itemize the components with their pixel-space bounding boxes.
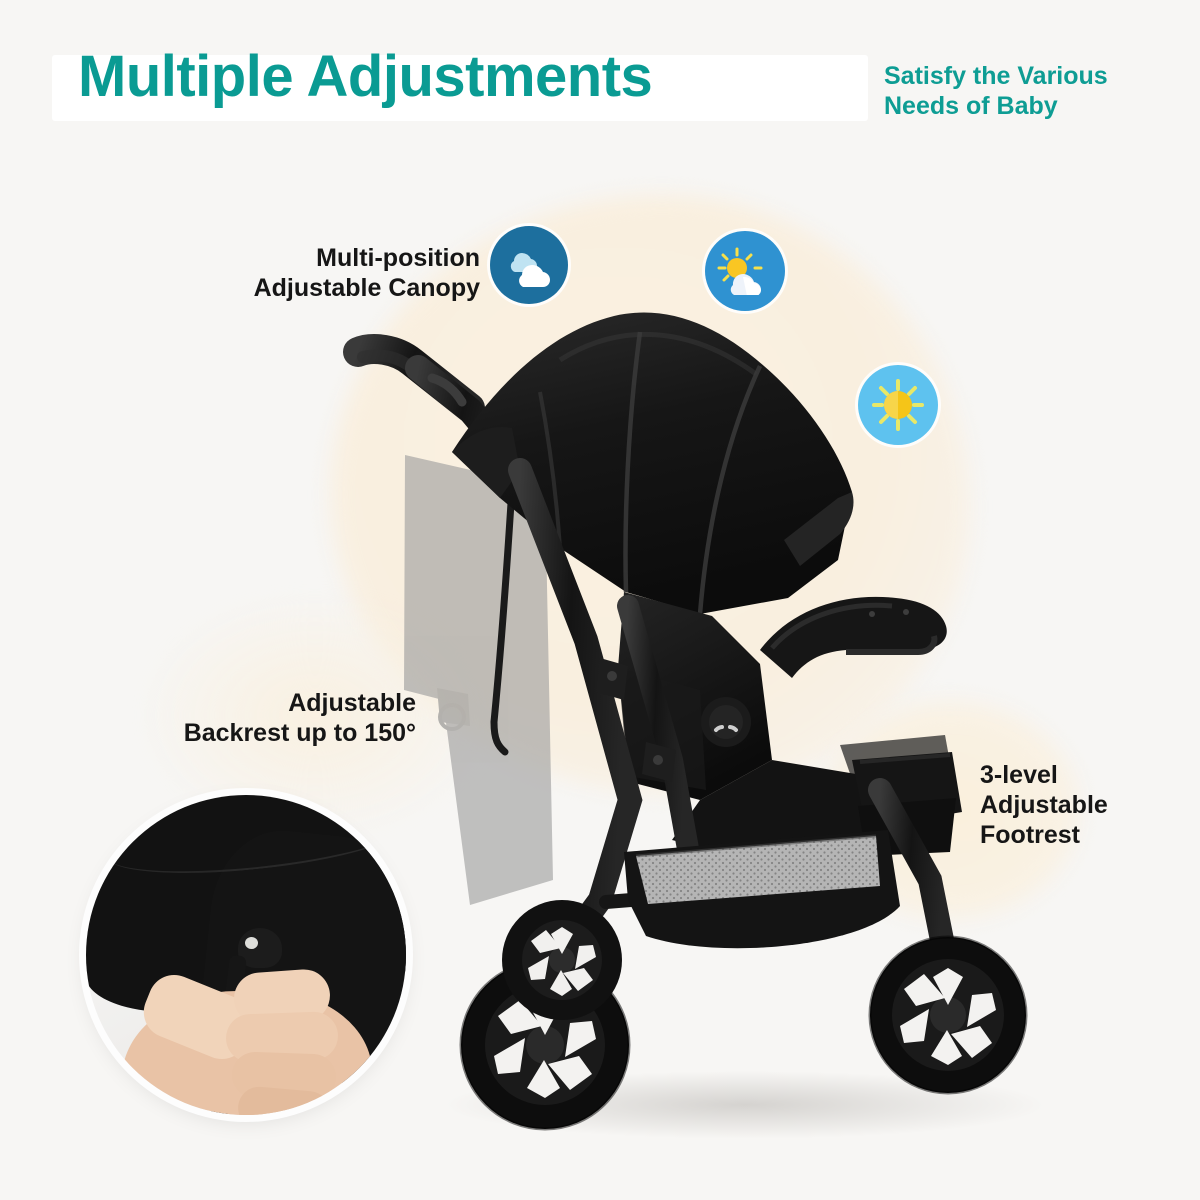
- sun-behind-cloud-icon: [717, 247, 773, 295]
- callout-footrest-line-2: Adjustable: [980, 790, 1180, 820]
- infographic-canvas: Multiple Adjustments Satisfy the Various…: [0, 0, 1200, 1200]
- weather-badge-cloudy: [490, 226, 568, 304]
- cloud-icon: [502, 242, 556, 288]
- callout-adjustable-footrest: 3-level Adjustable Footrest: [980, 760, 1180, 850]
- callout-footrest-line-3: Footrest: [980, 820, 1180, 850]
- weather-badge-partly-cloudy: [705, 231, 785, 311]
- callout-adjustable-backrest: Adjustable Backrest up to 150°: [96, 688, 416, 748]
- sun-icon: [871, 378, 925, 432]
- storage-basket: [624, 830, 900, 948]
- page-title: Multiple Adjustments: [78, 48, 652, 106]
- bumper-bar: [760, 597, 947, 678]
- weather-badge-sunny: [858, 365, 938, 445]
- rear-wheel-secondary: [502, 900, 622, 1020]
- callout-footrest-line-1: 3-level: [980, 760, 1180, 790]
- page-subtitle: Satisfy the Various Needs of Baby: [884, 62, 1184, 121]
- callout-backrest-line-2: Backrest up to 150°: [96, 718, 416, 748]
- page-subtitle-line-1: Satisfy the Various: [884, 62, 1184, 92]
- front-wheel: [870, 937, 1026, 1093]
- recline-adjustment-photo: [86, 795, 406, 1115]
- page-subtitle-line-2: Needs of Baby: [884, 92, 1184, 122]
- recline-knob: [701, 697, 751, 747]
- callout-canopy-line-1: Multi-position: [180, 243, 480, 273]
- callout-adjustable-canopy: Multi-position Adjustable Canopy: [180, 243, 480, 303]
- callout-canopy-line-2: Adjustable Canopy: [180, 273, 480, 303]
- callout-backrest-line-1: Adjustable: [96, 688, 416, 718]
